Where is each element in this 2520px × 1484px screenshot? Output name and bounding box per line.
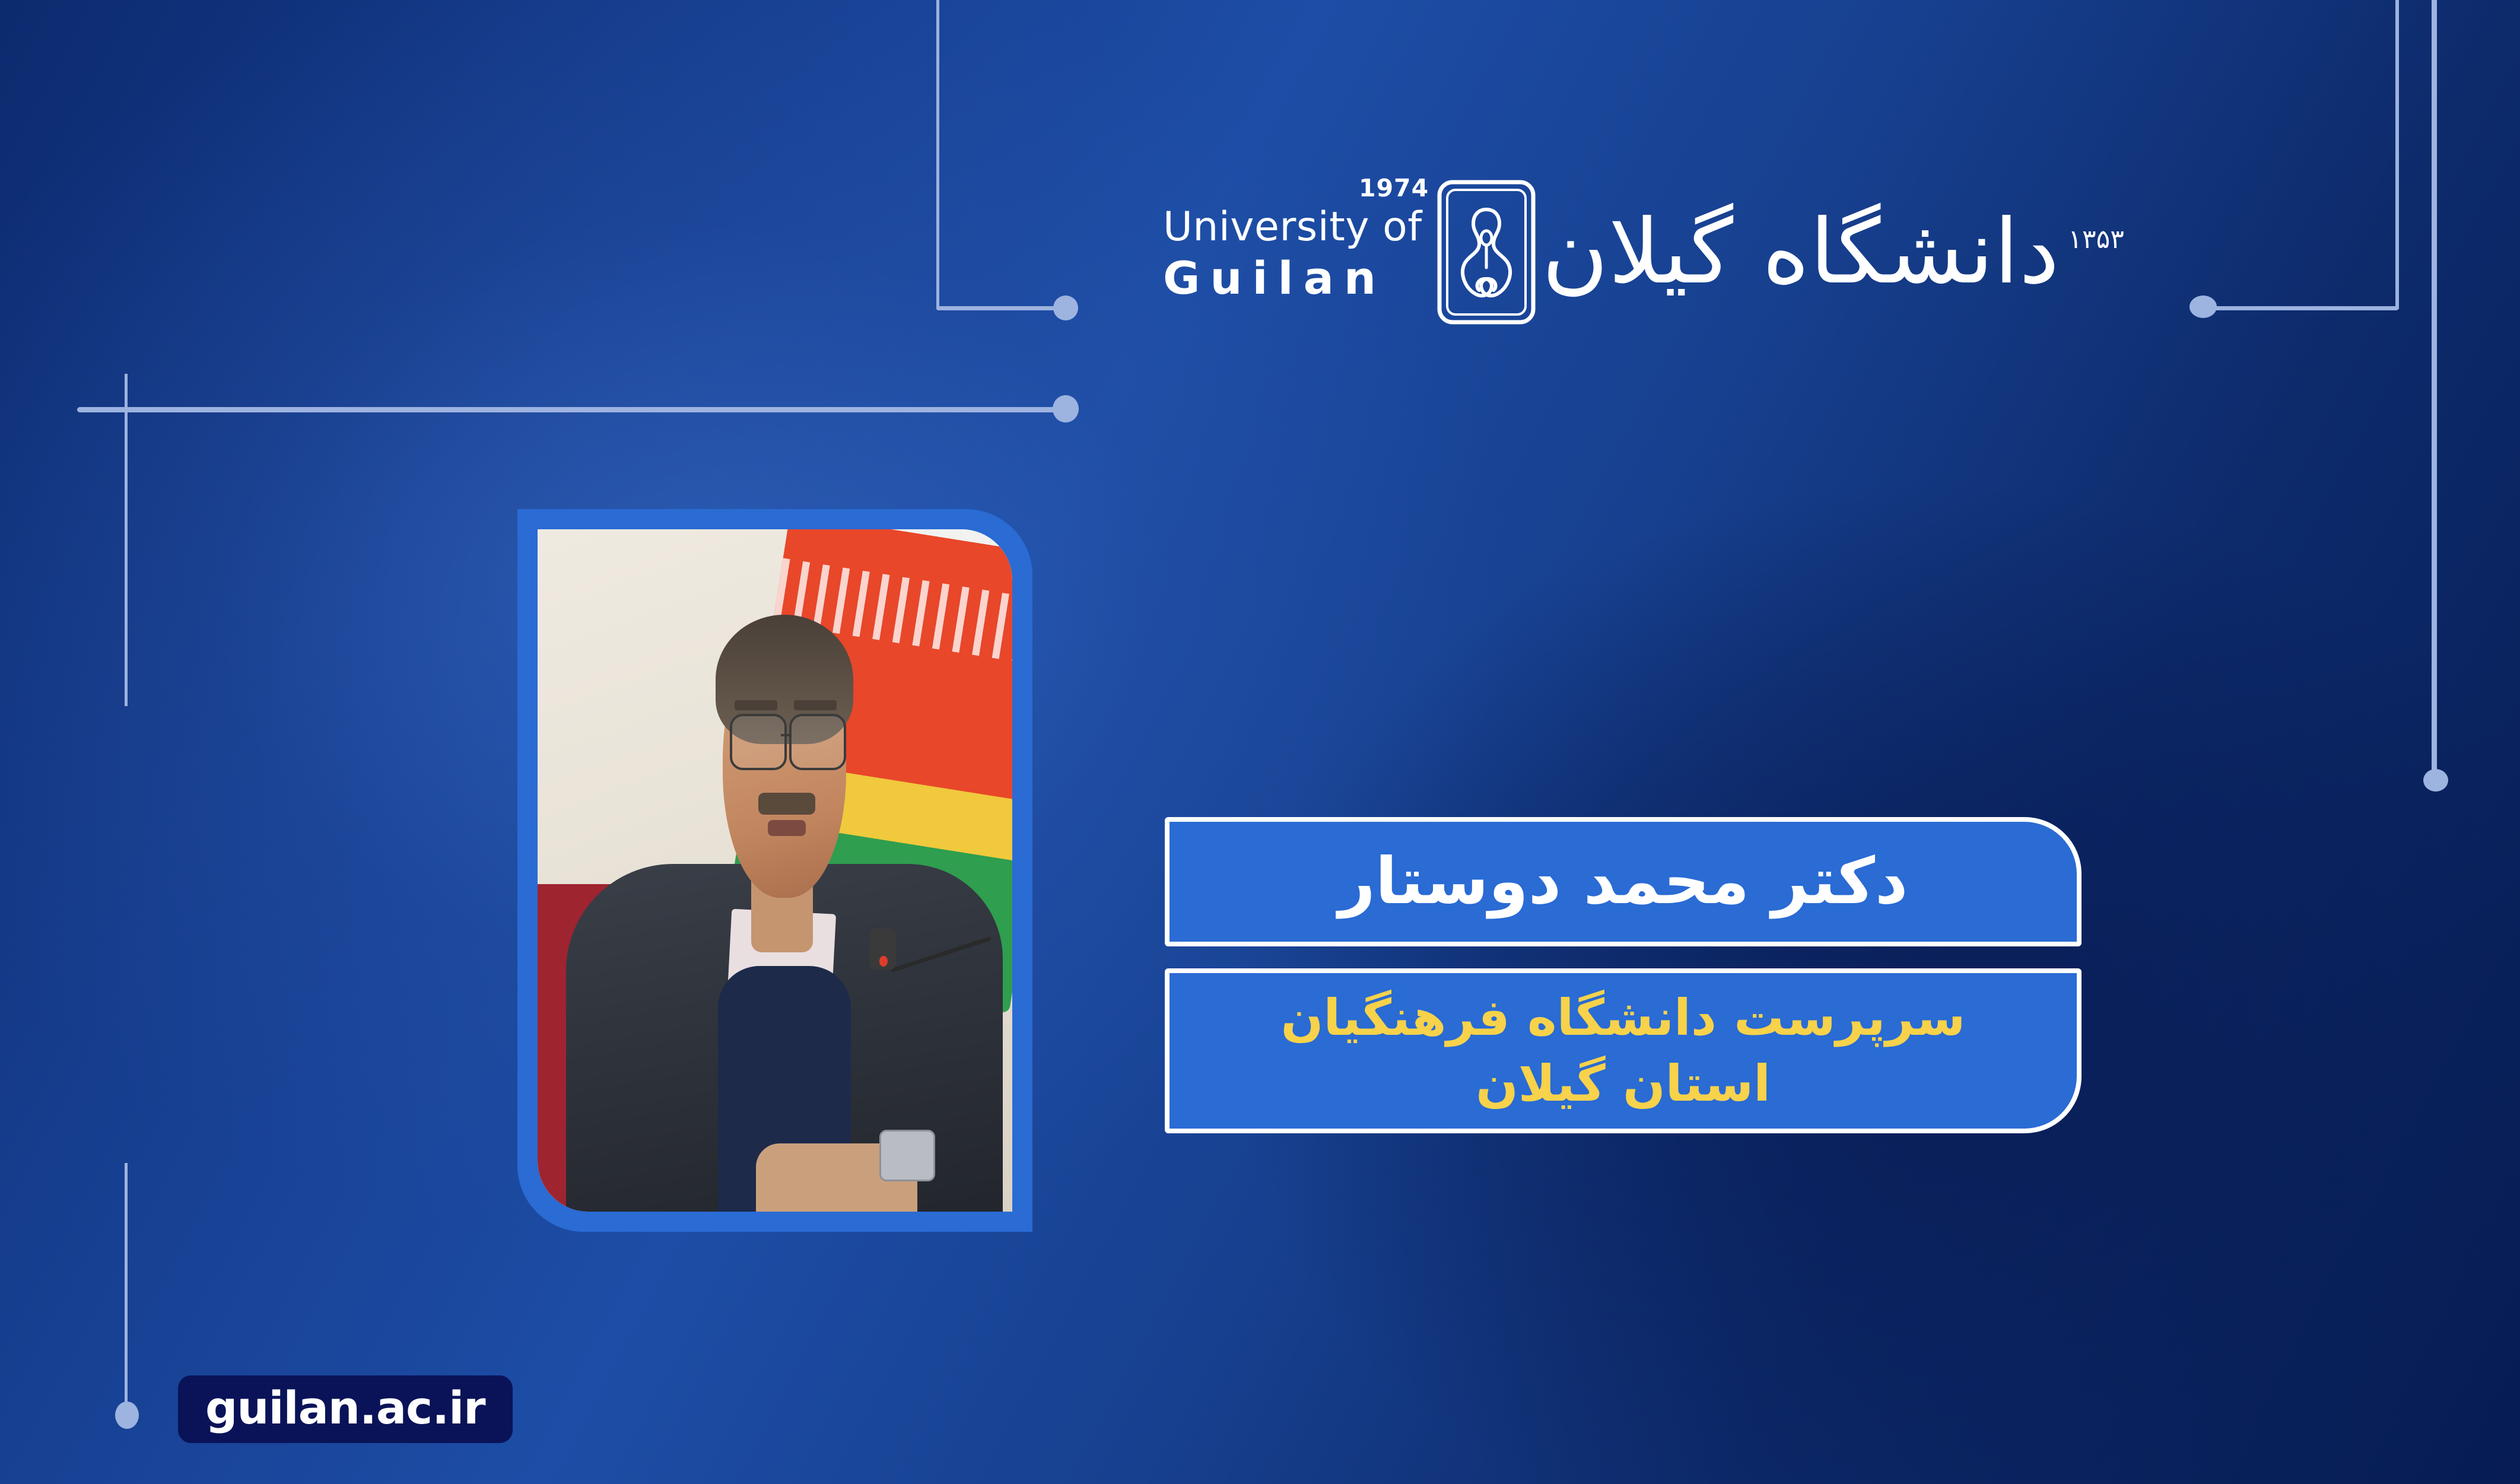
guilan-university-emblem-icon [1434,179,1539,326]
deco-line-mid-left-horizontal [77,407,1062,412]
logo-persian-name: دانشگاه گیلان [1542,208,2059,297]
logo-year-gregorian: 1974 [1359,176,1429,201]
person-title-line1: سرپرست دانشگاه فرهنگیان [1281,989,1966,1047]
portrait-photo [538,529,1012,1212]
photo-wristwatch [879,1130,935,1181]
deco-dot-bottom-left [115,1402,139,1429]
deco-dot-top-left [1053,295,1078,320]
person-name-text: دکتر محمد دوستار [1339,847,1908,917]
deco-line-top-right-horizontal [2203,306,2398,310]
university-logo: 1974 University of Guilan ۱۳۵۳ دانشگاه گ… [1163,178,2089,326]
deco-dot-mid-left [1053,395,1079,422]
photo-eyeglass-lens-right [789,714,846,770]
photo-mouth [768,820,806,837]
logo-year-persian: ۱۳۵۳ [2068,224,2124,255]
photo-eyeglass-bridge [781,734,792,736]
poster-canvas: 1974 University of Guilan ۱۳۵۳ دانشگاه گ… [0,0,2520,1484]
deco-dot-right [2423,769,2448,792]
website-url-text: guilan.ac.ir [205,1381,485,1434]
portrait-frame [517,509,1032,1232]
person-name-banner: دکتر محمد دوستار [1165,817,2082,946]
photo-eyeglass-lens-left [730,714,787,770]
logo-english-line1: University of [1163,207,1422,247]
logo-english-line2: Guilan [1163,256,1386,301]
person-title-line2: استان گیلان [1476,1054,1771,1113]
deco-line-top-right-vertical [2395,0,2399,309]
deco-dot-top-right [2189,295,2217,318]
logo-english-text: 1974 University of Guilan [1163,207,1422,301]
photo-eyebrow-right [794,700,837,710]
person-title-text: سرپرست دانشگاه فرهنگیان استان گیلان [1281,985,1966,1117]
logo-persian-text: ۱۳۵۳ دانشگاه گیلان [1547,208,2054,297]
deco-line-top-left-horizontal [936,306,1064,310]
deco-line-top-left-vertical [936,0,939,309]
person-title-banner: سرپرست دانشگاه فرهنگیان استان گیلان [1165,968,2082,1133]
photo-moustache [758,793,815,815]
deco-line-mid-left-vertical [125,374,128,706]
website-url-badge[interactable]: guilan.ac.ir [178,1375,513,1443]
deco-line-bottom-left-vertical [125,1163,128,1412]
photo-eyebrow-left [735,700,777,710]
deco-line-right-vertical [2432,0,2437,781]
